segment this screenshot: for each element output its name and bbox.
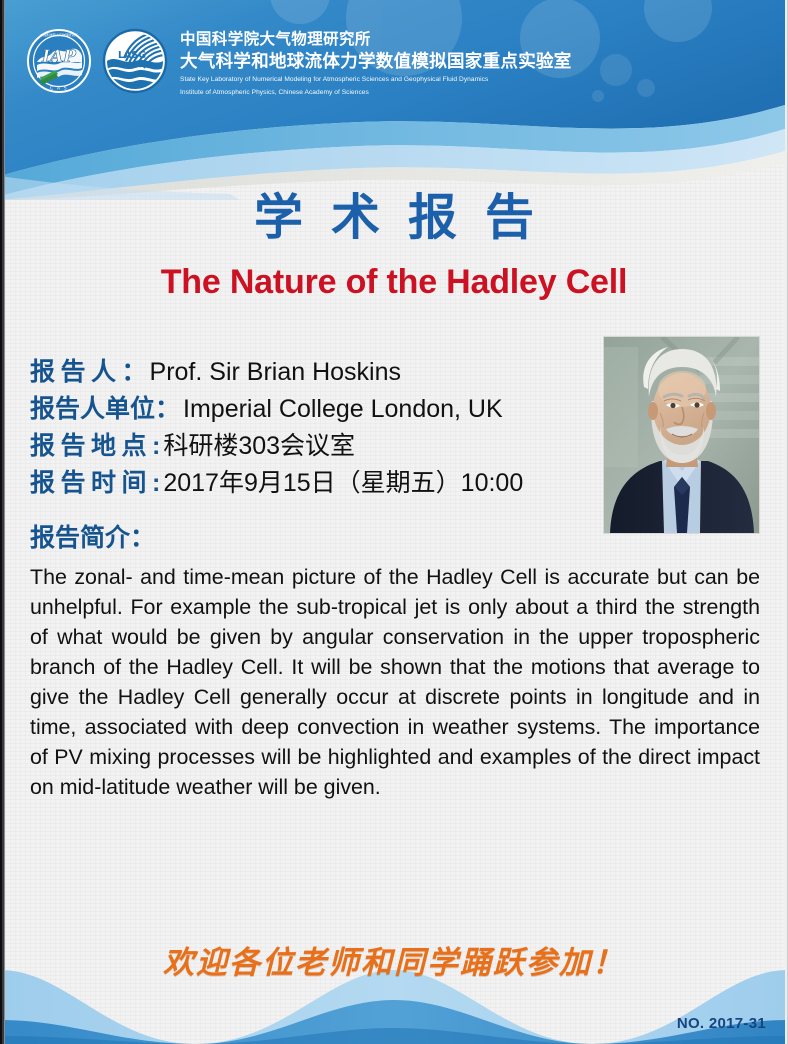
logo-group: 中国科学院大气物理研究所 IAP C A S [26, 28, 168, 94]
svg-text:LASG: LASG [118, 50, 146, 61]
info-sep-affiliation: ： [155, 389, 180, 425]
poster-title-cn: 学术报告 [0, 188, 788, 246]
info-row-affiliation: 报告人单位 ： Imperial College London, UK [30, 389, 523, 426]
info-value-venue: 科研楼303会议室 [163, 426, 355, 462]
info-label-speaker: 报告人 [30, 352, 122, 388]
iap-logo: 中国科学院大气物理研究所 IAP C A S [26, 28, 92, 94]
institute-name-cn: 中国科学院大气物理研究所 [180, 31, 572, 49]
info-label-affiliation: 报告人单位 [30, 389, 155, 425]
info-row-venue: 报告地点 : 科研楼303会议室 [30, 426, 523, 463]
info-sep-venue: : [152, 432, 160, 461]
info-row-time: 报告时间 : 2017年9月15日（星期五）10:00 [30, 463, 523, 500]
left-border [0, 0, 5, 1044]
seminar-poster: 中国科学院大气物理研究所 IAP C A S [0, 0, 788, 1044]
poster-title-en: The Nature of the Hadley Cell [0, 263, 788, 302]
institute-name-en: Institute of Atmospheric Physics, Chines… [180, 88, 572, 98]
info-row-speaker: 报告人 ： Prof. Sir Brian Hoskins [30, 352, 523, 389]
institute-block: 中国科学院大气物理研究所 大气科学和地球流体力学数值模拟国家重点实验室 Stat… [180, 31, 572, 97]
speaker-photo [604, 337, 759, 533]
info-value-time: 2017年9月15日（星期五）10:00 [163, 463, 523, 499]
poster-header: 中国科学院大气物理研究所 IAP C A S [0, 0, 788, 200]
lasg-logo: LASG [102, 28, 168, 94]
talk-info-list: 报告人 ： Prof. Sir Brian Hoskins 报告人单位 ： Im… [30, 352, 523, 500]
svg-text:中国科学院大气物理研究所: 中国科学院大气物理研究所 [40, 32, 77, 37]
abstract-body: The zonal- and time-mean picture of the … [30, 562, 760, 802]
svg-text:IAP: IAP [41, 47, 77, 67]
laboratory-name-en: State Key Laboratory of Numerical Modeli… [180, 75, 572, 85]
info-sep-time: : [152, 469, 160, 498]
issue-number: NO. 2017-31 [677, 1015, 766, 1032]
info-value-affiliation: Imperial College London, UK [183, 395, 503, 424]
welcome-message: 欢迎各位老师和同学踊跃参加！ [0, 937, 788, 982]
poster-footer: 欢迎各位老师和同学踊跃参加！ NO. 2017-31 [0, 924, 788, 1044]
svg-text:C A S: C A S [50, 86, 68, 92]
info-sep-speaker: ： [122, 352, 147, 388]
abstract-heading: 报告简介： [30, 518, 155, 554]
info-label-venue: 报告地点 [30, 426, 152, 462]
laboratory-name-cn: 大气科学和地球流体力学数值模拟国家重点实验室 [180, 50, 572, 72]
info-label-time: 报告时间 [30, 463, 152, 499]
info-value-speaker: Prof. Sir Brian Hoskins [150, 358, 401, 387]
